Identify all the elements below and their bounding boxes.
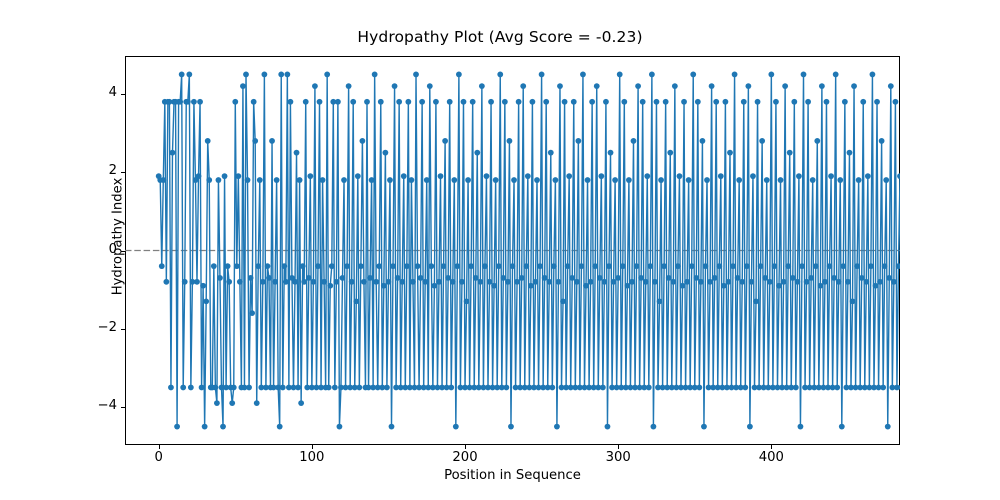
x-tick-label: 0 xyxy=(124,450,194,465)
y-axis-label: Hydropathy Index xyxy=(111,7,126,467)
x-tick-label: 300 xyxy=(583,450,653,465)
hydropathy-figure: Hydropathy Plot (Avg Score = -0.23) 0100… xyxy=(0,0,1000,500)
x-tick-mark xyxy=(618,445,619,449)
x-axis-label: Position in Sequence xyxy=(125,468,900,483)
x-tick-mark xyxy=(312,445,313,449)
plot-axes: 0100200300400 −4−2024 Position in Sequen… xyxy=(125,56,900,445)
x-tick-label: 200 xyxy=(430,450,500,465)
hydropathy-series-svg xyxy=(125,56,900,445)
chart-title: Hydropathy Plot (Avg Score = -0.23) xyxy=(0,28,1000,46)
x-tick-label: 100 xyxy=(277,450,347,465)
x-tick-mark xyxy=(465,445,466,449)
x-tick-mark xyxy=(771,445,772,449)
x-tick-label: 400 xyxy=(736,450,806,465)
x-tick-mark xyxy=(159,445,160,449)
